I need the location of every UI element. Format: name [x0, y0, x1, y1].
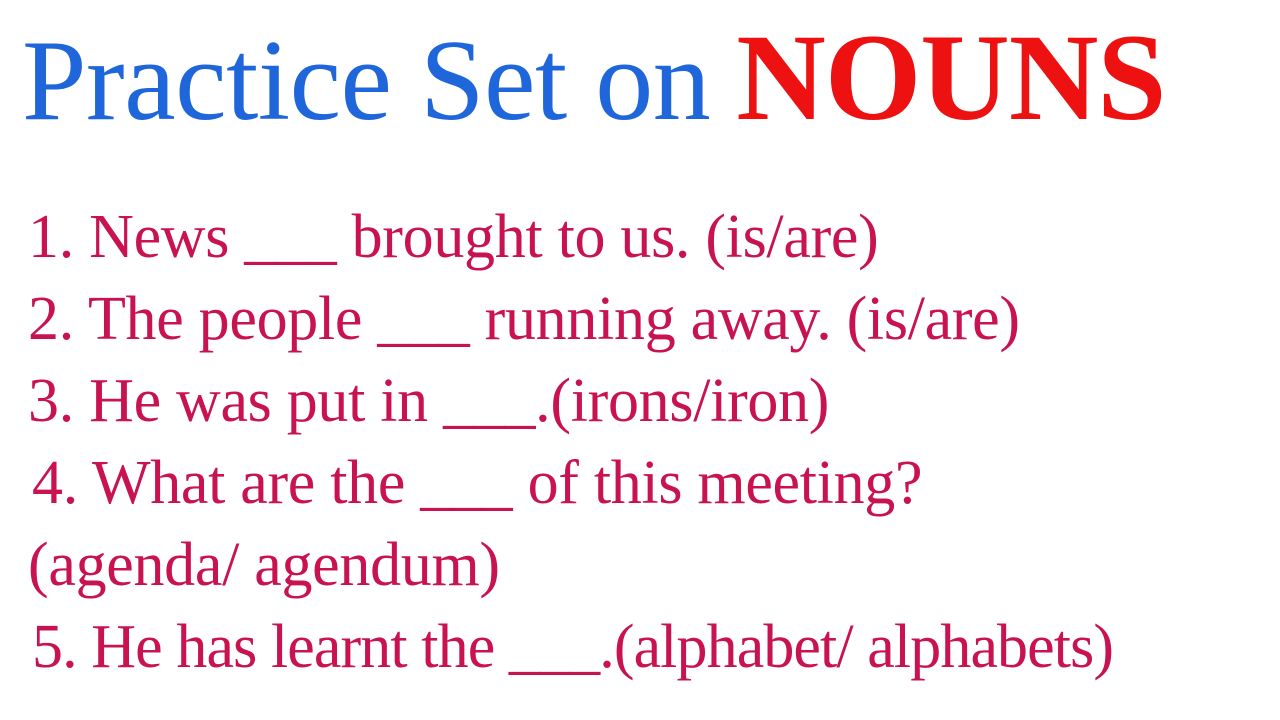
page-title-main: Practice Set on: [22, 23, 710, 139]
question-list: 1. News ___ brought to us. (is/are) 2. T…: [0, 196, 1280, 688]
question-item-4: 4. What are the ___ of this meeting?: [28, 442, 1280, 524]
question-item-4-options: (agenda/ agendum): [28, 524, 1280, 606]
worksheet-page: Practice Set on NOUNS 1. News ___ brough…: [0, 0, 1280, 720]
page-title-accent: NOUNS: [736, 16, 1165, 140]
page-title: Practice Set on NOUNS: [0, 16, 1280, 156]
question-item-1: 1. News ___ brought to us. (is/are): [28, 196, 1280, 278]
question-item-3: 3. He was put in ___.(irons/iron): [28, 360, 1280, 442]
question-item-2: 2. The people ___ running away. (is/are): [28, 278, 1280, 360]
question-item-5: 5. He has learnt the ___.(alphabet/ alph…: [28, 606, 1280, 688]
